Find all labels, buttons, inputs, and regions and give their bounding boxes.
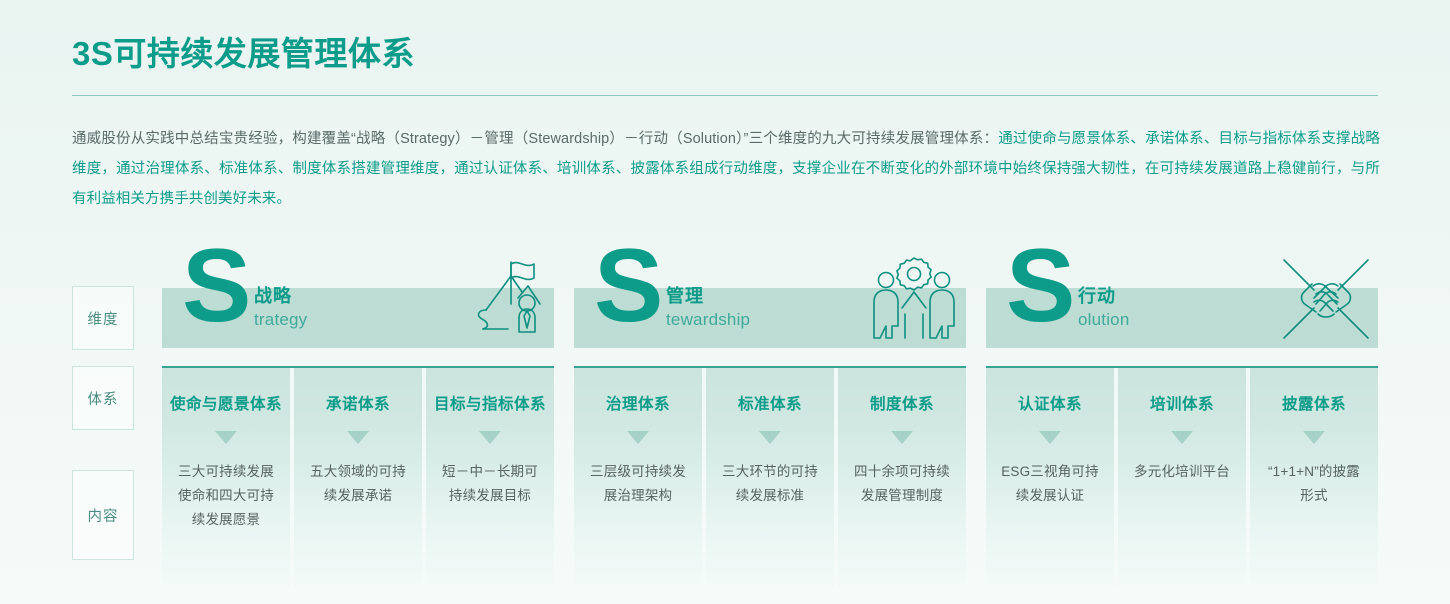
dimension-title-en: olution xyxy=(1078,308,1130,332)
content-description: 五大领域的可持续发展承诺 xyxy=(294,460,422,508)
system-title: 认证体系 xyxy=(986,392,1114,417)
system-title: 承诺体系 xyxy=(294,392,422,417)
framework-matrix: 维度 体系 内容 S 战略 trategy xyxy=(72,248,1378,588)
group-cells-stewardship: 治理体系 三层级可持续发展治理架构 标准体系 三大环节的可持续发展标准 制度体系… xyxy=(574,366,966,588)
group-cells-strategy: 使命与愿景体系 三大可持续发展使命和四大可持续发展愿景 承诺体系 五大领域的可持… xyxy=(162,366,554,588)
down-arrow-icon xyxy=(891,431,913,444)
row-label-dimension: 维度 xyxy=(72,286,134,350)
system-cell[interactable]: 认证体系 ESG三视角可持续发展认证 xyxy=(986,368,1114,588)
down-arrow-icon xyxy=(215,431,237,444)
dimension-title-block: 战略 trategy xyxy=(254,284,307,332)
joined-hands-icon xyxy=(1280,256,1372,342)
content-description: 三大可持续发展使命和四大可持续发展愿景 xyxy=(162,460,290,532)
system-cell[interactable]: 使命与愿景体系 三大可持续发展使命和四大可持续发展愿景 xyxy=(162,368,290,588)
dimension-title-block: 行动 olution xyxy=(1078,284,1130,332)
system-title: 目标与指标体系 xyxy=(426,392,554,417)
dimension-band-content: S 行动 olution xyxy=(986,248,1378,348)
content-description: 三大环节的可持续发展标准 xyxy=(706,460,834,508)
row-label-content: 内容 xyxy=(72,470,134,560)
dimension-groups: S 战略 trategy xyxy=(162,248,1378,588)
content-description: “1+1+N”的披露形式 xyxy=(1250,460,1378,508)
down-arrow-icon xyxy=(1171,431,1193,444)
title-divider xyxy=(72,95,1378,96)
row-label-column: 维度 体系 内容 xyxy=(72,248,134,588)
system-title: 标准体系 xyxy=(706,392,834,417)
down-arrow-icon xyxy=(759,431,781,444)
system-title: 使命与愿景体系 xyxy=(162,392,290,417)
system-cell[interactable]: 制度体系 四十余项可持续发展管理制度 xyxy=(838,368,966,588)
system-title: 治理体系 xyxy=(574,392,702,417)
dimension-band-content: S 战略 trategy xyxy=(162,248,554,348)
system-cell[interactable]: 标准体系 三大环节的可持续发展标准 xyxy=(706,368,834,588)
group-cells-solution: 认证体系 ESG三视角可持续发展认证 培训体系 多元化培训平台 披露体系 “1+… xyxy=(986,366,1378,588)
page-title: 3S可持续发展管理体系 xyxy=(72,34,1378,74)
dimension-title-en: trategy xyxy=(254,308,307,332)
team-gear-icon xyxy=(868,256,960,342)
infographic-page: 3S可持续发展管理体系 通威股份从实践中总结宝贵经验，构建覆盖“战略（Strat… xyxy=(0,0,1450,604)
down-arrow-icon xyxy=(1303,431,1325,444)
down-arrow-icon xyxy=(479,431,501,444)
dimension-band-content: S 管理 tewardship xyxy=(574,248,966,348)
dimension-title-cn: 战略 xyxy=(254,284,307,308)
big-letter-s: S xyxy=(594,234,661,338)
dimension-title-en: tewardship xyxy=(666,308,750,332)
mountain-flag-person-icon xyxy=(456,256,548,342)
system-title: 制度体系 xyxy=(838,392,966,417)
intro-paragraph: 通威股份从实践中总结宝贵经验，构建覆盖“战略（Strategy）－管理（Stew… xyxy=(72,124,1380,214)
big-letter-s: S xyxy=(182,234,249,338)
big-letter-s: S xyxy=(1006,234,1073,338)
content-description: 四十余项可持续发展管理制度 xyxy=(838,460,966,508)
content-description: 三层级可持续发展治理架构 xyxy=(574,460,702,508)
dimension-title-block: 管理 tewardship xyxy=(666,284,750,332)
dimension-group-strategy: S 战略 trategy xyxy=(162,248,554,588)
dimension-group-solution: S 行动 olution xyxy=(986,248,1378,588)
intro-text-primary: 通威股份从实践中总结宝贵经验，构建覆盖“战略（Strategy）－管理（Stew… xyxy=(72,131,998,147)
down-arrow-icon xyxy=(1039,431,1061,444)
content-description: 短－中－长期可持续发展目标 xyxy=(426,460,554,508)
system-title: 披露体系 xyxy=(1250,392,1378,417)
dimension-title-cn: 行动 xyxy=(1078,284,1130,308)
system-cell[interactable]: 治理体系 三层级可持续发展治理架构 xyxy=(574,368,702,588)
page-header: 3S可持续发展管理体系 xyxy=(72,34,1378,96)
down-arrow-icon xyxy=(347,431,369,444)
down-arrow-icon xyxy=(627,431,649,444)
system-cell[interactable]: 披露体系 “1+1+N”的披露形式 xyxy=(1250,368,1378,588)
row-label-system: 体系 xyxy=(72,366,134,430)
content-description: ESG三视角可持续发展认证 xyxy=(986,460,1114,508)
system-cell[interactable]: 培训体系 多元化培训平台 xyxy=(1118,368,1246,588)
content-description: 多元化培训平台 xyxy=(1118,460,1246,484)
system-cell[interactable]: 目标与指标体系 短－中－长期可持续发展目标 xyxy=(426,368,554,588)
dimension-group-stewardship: S 管理 tewardship xyxy=(574,248,966,588)
system-title: 培训体系 xyxy=(1118,392,1246,417)
system-cell[interactable]: 承诺体系 五大领域的可持续发展承诺 xyxy=(294,368,422,588)
dimension-title-cn: 管理 xyxy=(666,284,750,308)
